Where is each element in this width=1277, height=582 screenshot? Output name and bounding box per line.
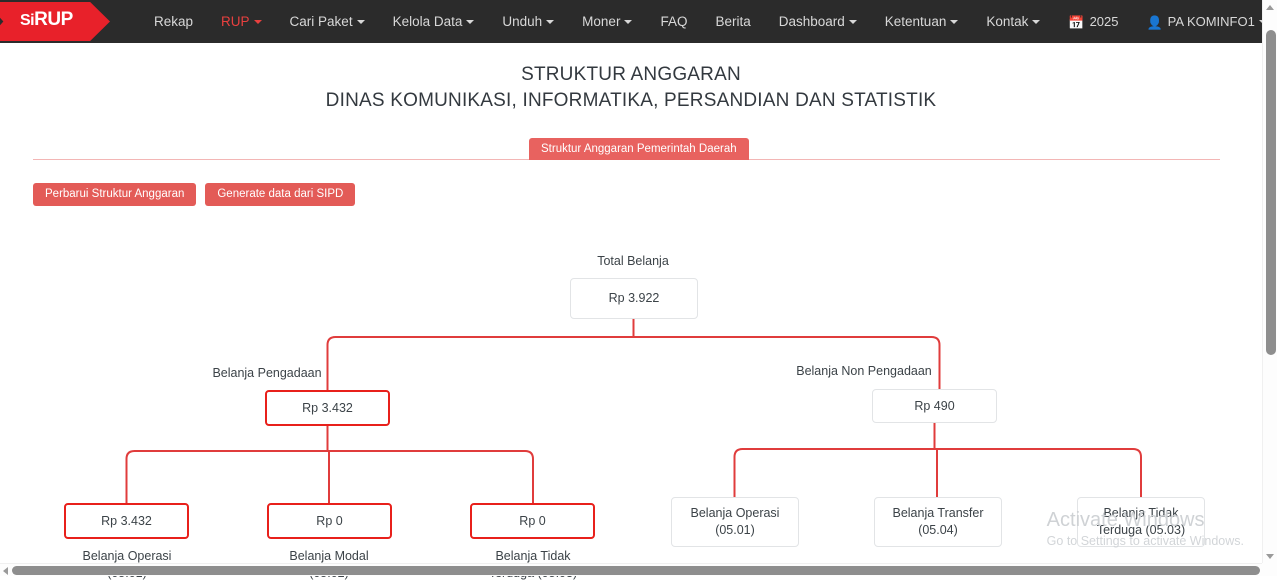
nav-item-kontak[interactable]: Kontak (972, 0, 1054, 43)
node-belanja-operasi-0501-value: Rp 3.432 (101, 513, 152, 530)
logo-text-main: RUP (34, 9, 73, 30)
chevron-down-icon (254, 20, 262, 24)
nav-menu: Rekap RUP Cari Paket Kelola Data Unduh M… (140, 0, 1054, 43)
nav-item-kontak-label: Kontak (986, 14, 1028, 29)
nav-item-ketentuan[interactable]: Ketentuan (871, 0, 973, 43)
vertical-scroll-thumb[interactable] (1266, 30, 1276, 355)
year-label: 2025 (1090, 14, 1119, 29)
node-belanja-pengadaan-value: Rp 3.432 (302, 400, 353, 417)
nav-item-rup-label: RUP (221, 14, 250, 29)
chevron-down-icon (1032, 20, 1040, 24)
scrollbar-corner (1262, 563, 1277, 576)
node-belanja-non-pengadaan[interactable]: Rp 490 (872, 389, 997, 423)
node-right-belanja-transfer-0504[interactable]: Belanja Transfer (05.04) (874, 497, 1002, 547)
nav-item-rekap-label: Rekap (154, 14, 193, 29)
nav-item-faq[interactable]: FAQ (646, 0, 701, 43)
watermark-title: Activate Windows (1047, 508, 1244, 532)
nav-item-unduh-label: Unduh (502, 14, 542, 29)
watermark-subtitle: Go to Settings to activate Windows. (1047, 532, 1244, 550)
nav-item-ketentuan-label: Ketentuan (885, 14, 947, 29)
nav-item-berita-label: Berita (715, 14, 750, 29)
calendar-icon: 📅 (1068, 1, 1084, 44)
nav-item-moner[interactable]: Moner (568, 0, 646, 43)
scroll-left-arrow-icon[interactable] (3, 567, 8, 575)
chevron-down-icon (357, 20, 365, 24)
node-belanja-non-pengadaan-value: Rp 490 (914, 398, 954, 415)
page-content: STRUKTUR ANGGARAN DINAS KOMUNIKASI, INFO… (0, 43, 1262, 564)
user-menu[interactable]: 👤PA KOMINFO1 (1132, 0, 1277, 44)
node-belanja-tidak-terduga-0503-value: Rp 0 (519, 513, 545, 530)
node-belanja-pengadaan[interactable]: Rp 3.432 (265, 390, 390, 426)
node-total-belanja-value: Rp 3.922 (609, 290, 660, 307)
user-icon: 👤 (1146, 1, 1162, 44)
nav-item-cari-paket[interactable]: Cari Paket (276, 0, 379, 43)
node-right-belanja-operasi-0501[interactable]: Belanja Operasi (05.01) (671, 497, 799, 547)
page-title-line2: DINAS KOMUNIKASI, INFORMATIKA, PERSANDIA… (0, 88, 1262, 114)
node-total-belanja[interactable]: Rp 3.922 (570, 278, 698, 319)
user-label: PA KOMINFO1 (1168, 14, 1255, 29)
chevron-down-icon (466, 20, 474, 24)
tab-bar: Struktur Anggaran Pemerintah Daerah (0, 137, 1262, 160)
nav-item-cari-paket-label: Cari Paket (290, 14, 353, 29)
top-navbar: SiRUP Rekap RUP Cari Paket Kelola Data U… (0, 0, 1262, 43)
belanja-non-pengadaan-caption: Belanja Non Pengadaan (764, 363, 964, 380)
page-title: STRUKTUR ANGGARAN DINAS KOMUNIKASI, INFO… (0, 43, 1262, 114)
node-belanja-operasi-0501[interactable]: Rp 3.432 (64, 503, 189, 539)
page-title-line1: STRUKTUR ANGGARAN (0, 62, 1262, 88)
nav-item-dashboard[interactable]: Dashboard (765, 0, 871, 43)
nav-item-kelola-data[interactable]: Kelola Data (379, 0, 489, 43)
scroll-up-arrow-icon[interactable] (1266, 5, 1274, 10)
activate-windows-watermark: Activate Windows Go to Settings to activ… (1047, 508, 1244, 550)
year-selector[interactable]: 📅2025 (1054, 0, 1132, 44)
tab-struktur-anggaran-pemerintah-daerah[interactable]: Struktur Anggaran Pemerintah Daerah (529, 138, 749, 160)
chevron-down-icon (546, 20, 554, 24)
root-caption: Total Belanja (533, 253, 733, 270)
chevron-down-icon (624, 20, 632, 24)
node-belanja-modal-0502-value: Rp 0 (316, 513, 342, 530)
vertical-scrollbar[interactable] (1262, 0, 1277, 564)
nav-item-faq-label: FAQ (660, 14, 687, 29)
chevron-down-icon (849, 20, 857, 24)
logo-text: SiRUP (20, 9, 73, 31)
chevron-down-icon (950, 20, 958, 24)
nav-item-dashboard-label: Dashboard (779, 14, 845, 29)
nav-item-unduh[interactable]: Unduh (488, 0, 568, 43)
horizontal-scrollbar[interactable] (0, 563, 1262, 576)
nav-item-rup[interactable]: RUP (207, 0, 276, 43)
belanja-pengadaan-caption: Belanja Pengadaan (167, 365, 367, 382)
nav-item-kelola-data-label: Kelola Data (393, 14, 463, 29)
sirup-logo[interactable]: SiRUP (0, 0, 122, 43)
nav-item-berita[interactable]: Berita (701, 0, 764, 43)
logo-text-prefix: Si (20, 12, 34, 29)
node-belanja-modal-0502[interactable]: Rp 0 (267, 503, 392, 539)
horizontal-scroll-thumb[interactable] (12, 566, 1260, 575)
nav-item-moner-label: Moner (582, 14, 620, 29)
nav-item-rekap[interactable]: Rekap (140, 0, 207, 43)
scroll-down-arrow-icon[interactable] (1266, 554, 1274, 559)
node-belanja-tidak-terduga-0503[interactable]: Rp 0 (470, 503, 595, 539)
nav-right-group: 📅2025 👤PA KOMINFO1 (1054, 0, 1277, 44)
